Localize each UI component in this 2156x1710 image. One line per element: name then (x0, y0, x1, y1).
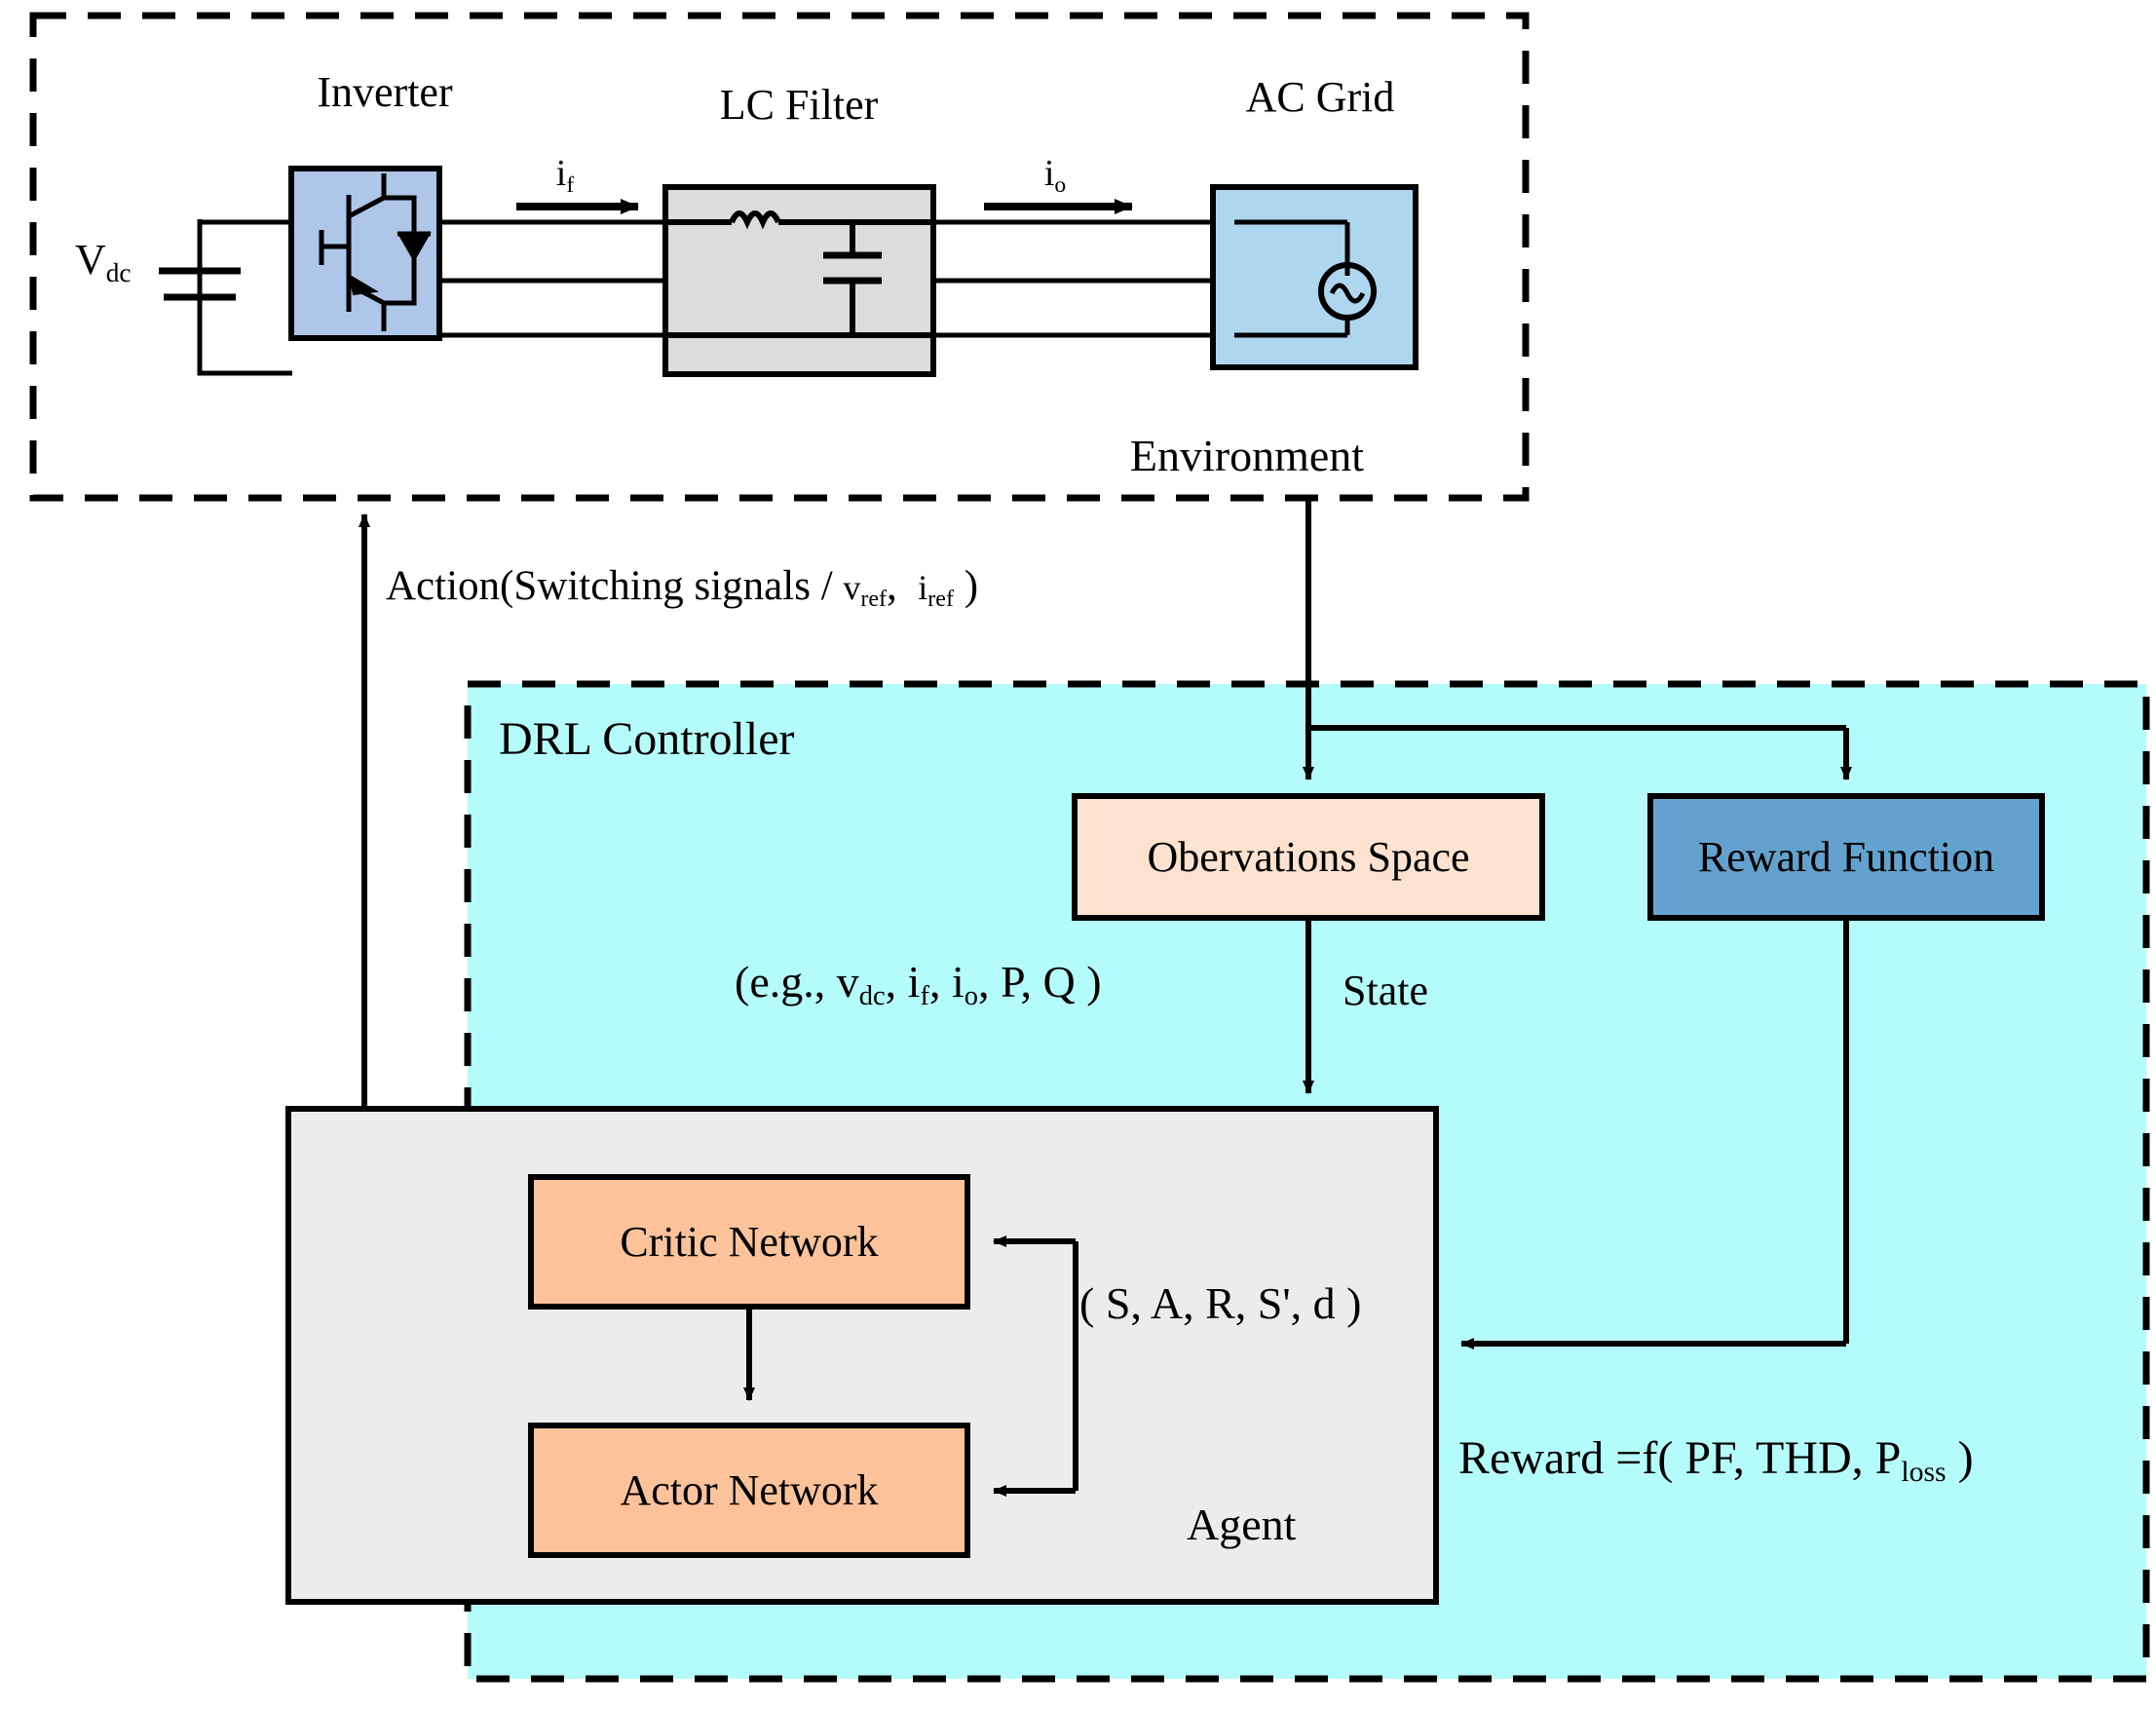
reward-formula-label: Reward =f( PF, THD, Ploss ) (1458, 1435, 1974, 1482)
ac-grid-title: AC Grid (1246, 76, 1395, 119)
action-iref-base: i (918, 568, 927, 607)
dc-source-symbol (159, 219, 292, 373)
vdc-var-sub: dc (859, 981, 886, 1011)
io-base: i (1044, 153, 1055, 194)
environment-label: Environment (1130, 434, 1364, 478)
action-vref-base: v (843, 568, 860, 607)
action-iref-subscript: ref (927, 587, 954, 612)
action-prefix: Action(Switching signals / (386, 563, 843, 609)
reward-function-label: Reward Function (1650, 796, 2042, 918)
reward-formula-subscript: loss (1901, 1456, 1946, 1488)
current-io-label: io (1044, 155, 1066, 192)
vdc-subscript: dc (106, 258, 132, 287)
action-suffix: ) (954, 563, 978, 609)
io-var: i (952, 957, 965, 1007)
lc-filter-panel (665, 187, 933, 374)
lc-filter-title: LC Filter (720, 84, 879, 127)
action-comma: , (887, 563, 897, 609)
critic-network-label: Critic Network (531, 1177, 967, 1307)
if-var-sub: f (920, 981, 929, 1011)
state-label: State (1343, 969, 1428, 1012)
io-subscript: o (1054, 172, 1066, 198)
if-var: i (908, 957, 921, 1007)
io-var-sub: o (965, 981, 978, 1011)
vdc-var: v (837, 957, 859, 1007)
reward-formula-tail: ) (1947, 1432, 1974, 1484)
if-base: i (556, 153, 567, 194)
drl-controller-label: DRL Controller (499, 716, 795, 763)
action-vref-subscript: ref (860, 587, 887, 612)
inverter-title: Inverter (317, 71, 452, 114)
comma-1: , (886, 957, 908, 1007)
ac-grid-block (1213, 187, 1416, 367)
eg-open: (e.g., (735, 957, 837, 1007)
observation-examples-label: (e.g., vdc, if, io, P, Q ) (735, 960, 1102, 1005)
action-label: Action(Switching signals / vref, iref ) (386, 565, 978, 607)
actor-network-label: Actor Network (531, 1425, 967, 1555)
comma-2: , (929, 957, 952, 1007)
current-if-label: if (556, 155, 574, 192)
diagram-canvas: Inverter LC Filter AC Grid Vdc if io Env… (0, 0, 2156, 1710)
reward-formula-head: Reward =f( PF, THD, P (1458, 1432, 1901, 1484)
if-subscript: f (566, 172, 574, 198)
observation-space-label: Obervations Space (1075, 796, 1542, 918)
vdc-base: V (75, 236, 106, 284)
vdc-label: Vdc (75, 239, 132, 282)
transition-tuple-label: ( S, A, R, S', d ) (1079, 1281, 1361, 1326)
agent-label: Agent (1187, 1502, 1296, 1547)
comma-3: , P, Q ) (978, 957, 1102, 1007)
